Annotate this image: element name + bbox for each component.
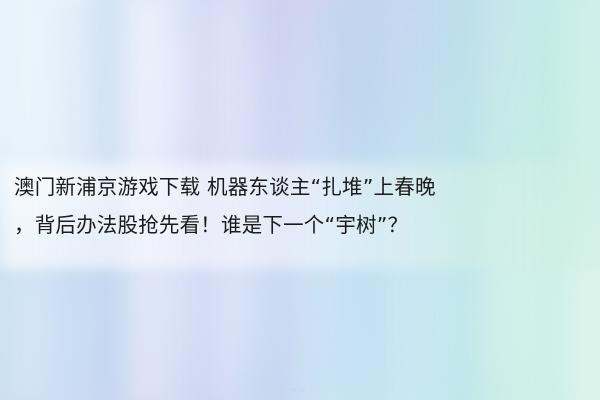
headline-line-1: 澳门新浦京游戏下载 机器东谈主“扎堆”上春晚 xyxy=(14,175,436,199)
headline-text: 澳门新浦京游戏下载 机器东谈主“扎堆”上春晚 ，背后办法股抢先看！谁是下一个“宇… xyxy=(0,168,600,244)
image-canvas: 澳门新浦京游戏下载 机器东谈主“扎堆”上春晚 ，背后办法股抢先看！谁是下一个“宇… xyxy=(0,0,600,400)
watermark-text: · · xyxy=(0,386,600,396)
headline-line-2: ，背后办法股抢先看！谁是下一个“宇树”？ xyxy=(14,206,586,244)
